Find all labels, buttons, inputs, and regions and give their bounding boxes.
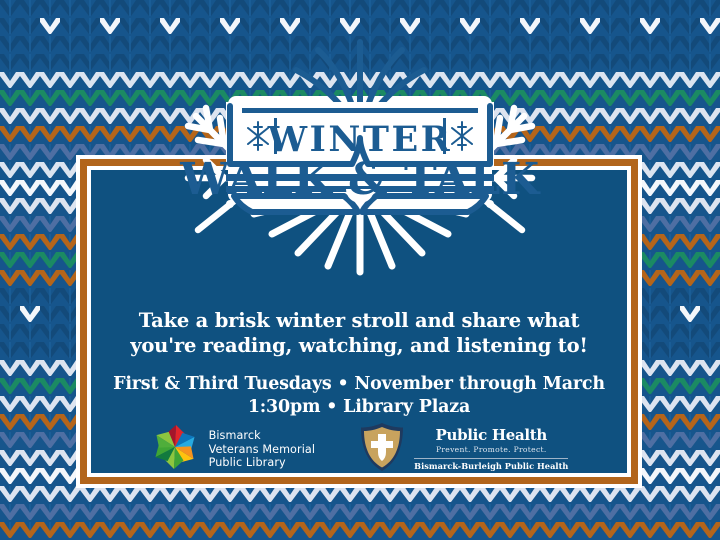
- detail-line-2: 1:30pm • Library Plaza: [91, 396, 627, 419]
- sponsor-logo-row: Bismarck Veterans Memorial Public Librar…: [91, 422, 627, 477]
- library-logo: Bismarck Veterans Memorial Public Librar…: [150, 422, 316, 477]
- poster-canvas: Take a brisk winter stroll and share wha…: [0, 0, 720, 540]
- frame-copper-band: Take a brisk winter stroll and share wha…: [80, 159, 638, 484]
- poster-frame: Take a brisk winter stroll and share wha…: [76, 155, 642, 488]
- poster-copy: Take a brisk winter stroll and share wha…: [91, 308, 627, 419]
- library-name-line-3: Public Library: [209, 456, 286, 469]
- library-logo-text: Bismarck Veterans Memorial Public Librar…: [209, 429, 316, 470]
- public-health-title: Public Health: [436, 426, 548, 444]
- public-health-divider: [414, 458, 568, 459]
- library-name-line-1: Bismarck: [209, 429, 261, 442]
- pinwheel-star-icon: [150, 422, 200, 477]
- detail-line-1: First & Third Tuesdays • November throug…: [91, 373, 627, 396]
- public-health-logo: Public Health Prevent. Promote. Protect.…: [359, 422, 568, 477]
- lead-line-2: you're reading, watching, and listening …: [91, 333, 627, 358]
- public-health-subtitle: Bismarck-Burleigh Public Health: [414, 461, 568, 472]
- copy-spacer: [91, 358, 627, 373]
- poster-panel: Take a brisk winter stroll and share wha…: [91, 170, 627, 473]
- public-health-logo-text: Public Health Prevent. Promote. Protect.…: [414, 427, 568, 472]
- library-name-line-2: Veterans Memorial: [209, 443, 316, 456]
- lead-line-1: Take a brisk winter stroll and share wha…: [91, 308, 627, 333]
- frame-inner-white-band: Take a brisk winter stroll and share wha…: [87, 166, 631, 477]
- public-health-tagline: Prevent. Promote. Protect.: [414, 445, 568, 455]
- shield-cross-icon: [359, 422, 405, 477]
